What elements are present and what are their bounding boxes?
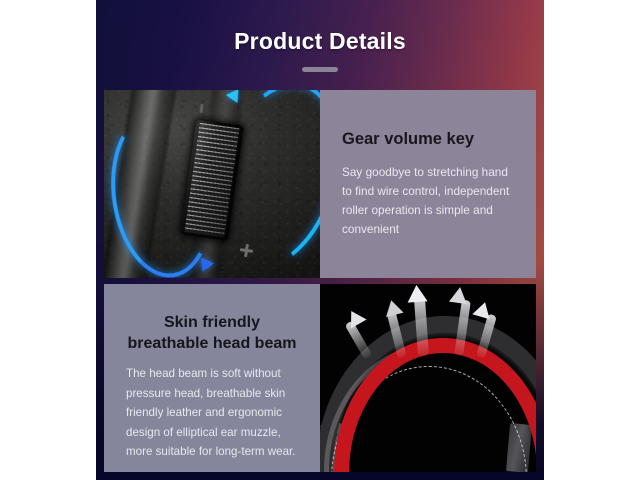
feature-row-top: Gear volume key Say goodbye to stretchin… <box>104 90 536 278</box>
head-beam-photo <box>320 284 536 472</box>
volume-roller-photo <box>104 90 320 278</box>
page-title: Product Details <box>96 28 544 55</box>
title-divider-bar <box>302 67 338 72</box>
banner-header: Product Details <box>96 0 544 90</box>
skin-friendly-head-beam-heading: Skin friendly breathable head beam <box>126 312 298 354</box>
volume-roller-photo-cell <box>104 90 320 278</box>
gear-volume-key-panel: Gear volume key Say goodbye to stretchin… <box>320 90 536 278</box>
skin-friendly-head-beam-panel: Skin friendly breathable head beam The h… <box>104 284 320 472</box>
feature-row-bottom: Skin friendly breathable head beam The h… <box>104 284 536 472</box>
skin-friendly-head-beam-body: The head beam is soft without pressure h… <box>126 364 298 461</box>
feature-grid: Gear volume key Say goodbye to stretchin… <box>104 90 536 472</box>
gear-volume-key-heading: Gear volume key <box>342 130 514 149</box>
head-beam-photo-cell <box>320 284 536 472</box>
screenshot-canvas: Product Details <box>0 0 640 480</box>
product-details-banner: Product Details <box>96 0 544 480</box>
gear-volume-key-body: Say goodbye to stretching hand to find w… <box>342 163 514 239</box>
volume-plus-icon <box>239 243 254 258</box>
